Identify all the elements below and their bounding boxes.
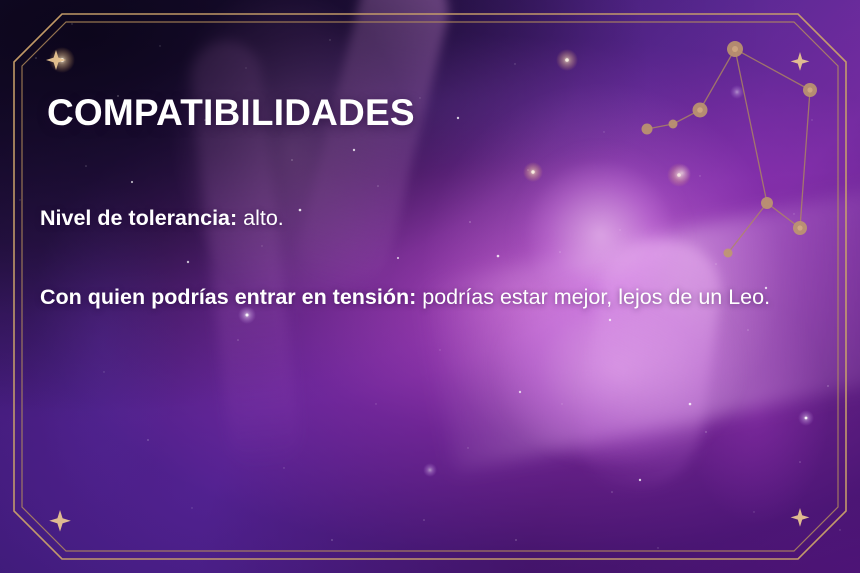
- tension-value: podrías estar mejor, lejos de un Leo.: [422, 285, 770, 309]
- tolerance-paragraph: Nivel de tolerancia: alto.: [40, 203, 810, 233]
- tension-label: Con quien podrías entrar en tensión:: [40, 285, 422, 309]
- tolerance-value: alto.: [243, 206, 284, 230]
- page-title: COMPATIBILIDADES: [47, 92, 415, 134]
- tolerance-label: Nivel de tolerancia:: [40, 206, 243, 230]
- tension-paragraph: Con quien podrías entrar en tensión: pod…: [40, 282, 810, 312]
- text-content: COMPATIBILIDADES Nivel de tolerancia: al…: [0, 0, 860, 573]
- horoscope-compatibility-card: COMPATIBILIDADES Nivel de tolerancia: al…: [0, 0, 860, 573]
